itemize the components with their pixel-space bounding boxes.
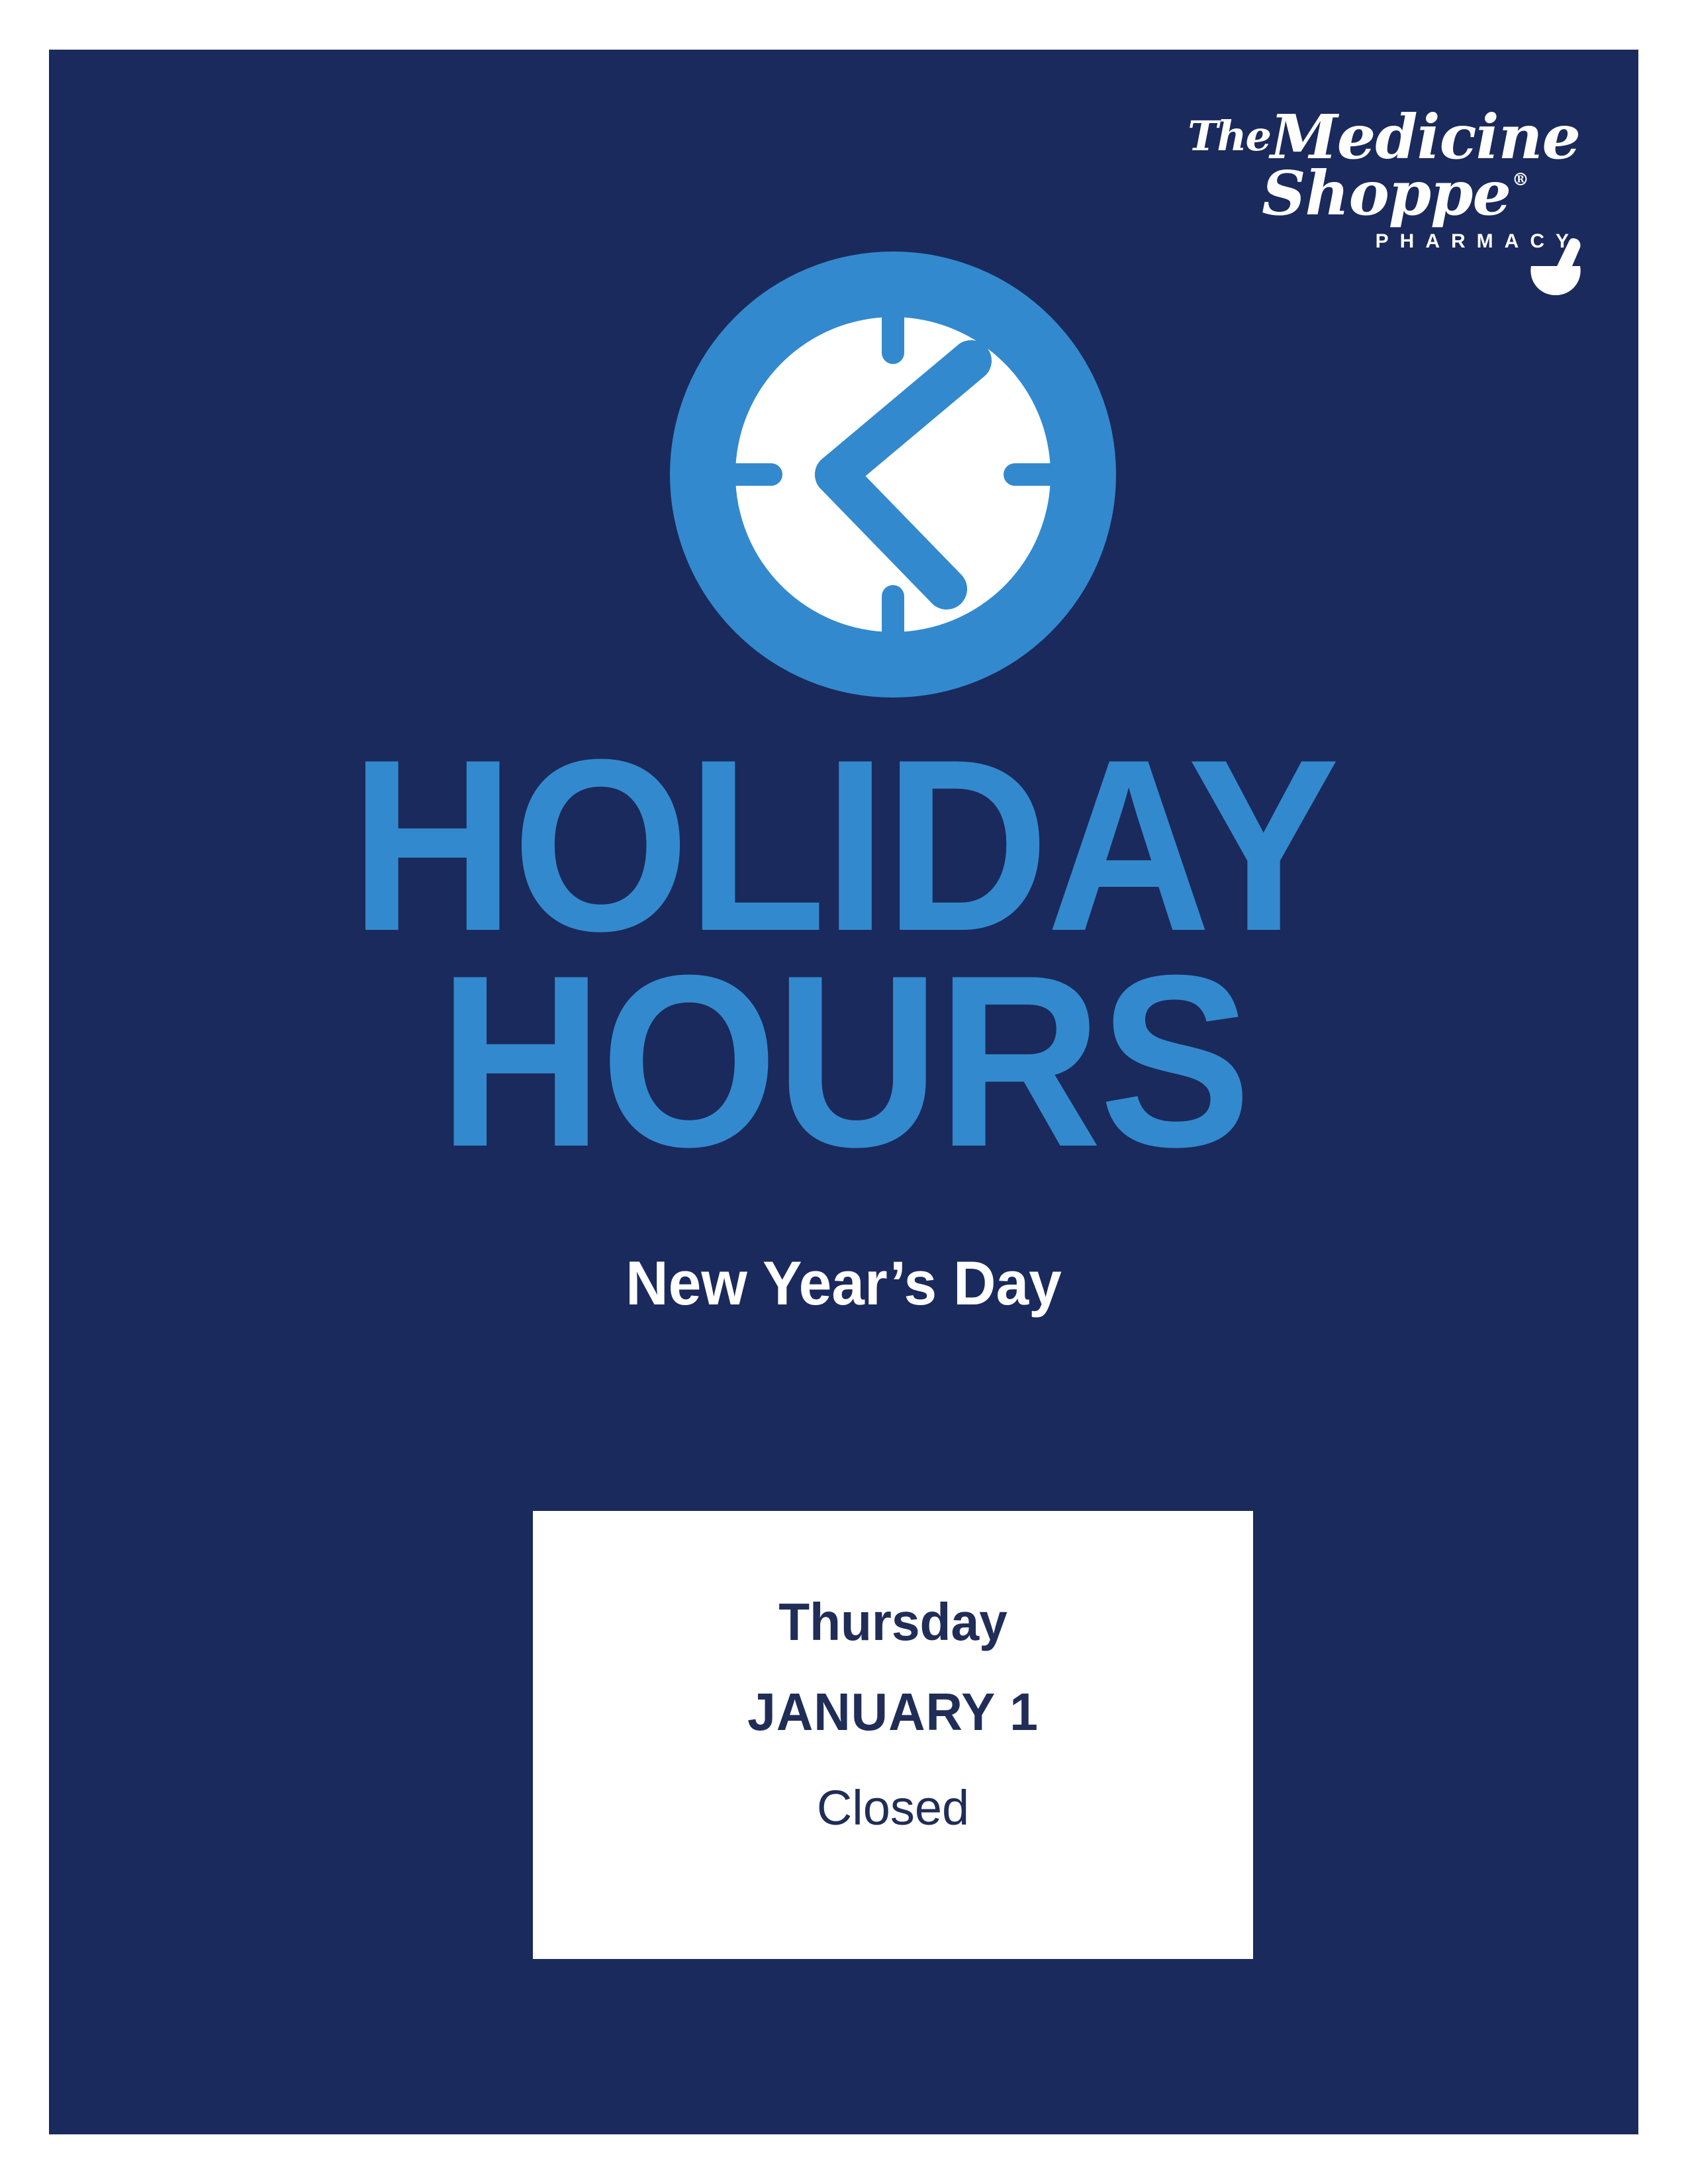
brand-tagline: PHARMACY xyxy=(1147,230,1584,253)
card-date: JANUARY 1 xyxy=(747,1686,1039,1739)
page-title: HOLIDAY HOURS xyxy=(49,738,1638,1169)
hours-card: Thursday JANUARY 1 Closed xyxy=(533,1511,1253,1959)
clock-icon xyxy=(670,251,1116,698)
brand-the: The xyxy=(1188,112,1270,160)
poster-panel: TheMedicine Shoppe® PHARMACY xyxy=(49,50,1638,2134)
brand-shoppe: Shoppe xyxy=(1262,158,1511,229)
brand-logo: TheMedicine Shoppe® PHARMACY xyxy=(1147,109,1584,253)
status-badge: Closed xyxy=(817,1784,969,1833)
holiday-name: New Year’s Day xyxy=(89,1248,1599,1319)
registered-mark: ® xyxy=(1512,170,1528,190)
brand-line-two: Shoppe® xyxy=(1147,165,1584,222)
headline-line-one: HOLIDAY xyxy=(105,738,1583,954)
headline-line-two: HOURS xyxy=(105,954,1583,1169)
brand-wordmark: TheMedicine Shoppe® xyxy=(1147,109,1584,221)
card-weekday: Thursday xyxy=(778,1596,1008,1649)
poster-page: TheMedicine Shoppe® PHARMACY xyxy=(0,0,1688,2184)
mortar-and-pestle-icon xyxy=(1527,237,1584,298)
